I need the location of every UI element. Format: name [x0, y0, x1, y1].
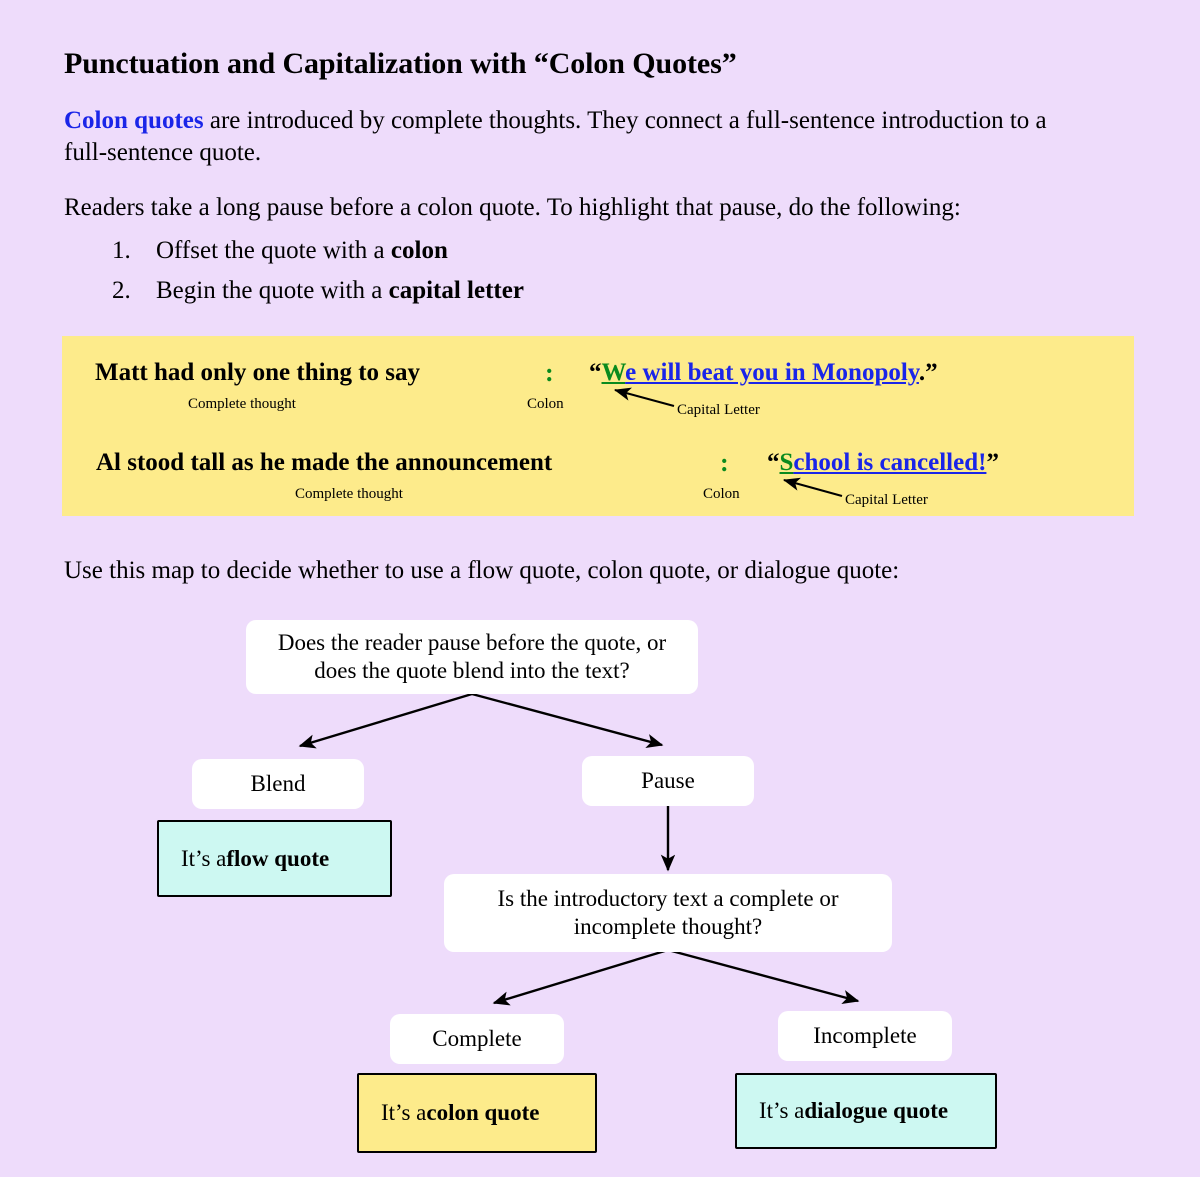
step-text: Offset the quote with a colon — [156, 237, 448, 265]
intro-paragraph-rest: are introduced by complete thoughts. The… — [64, 107, 1047, 166]
flowchart-branch-complete[interactable]: Complete — [390, 1014, 564, 1064]
result-flow-prefix: It’s a — [181, 846, 226, 872]
flowchart-branch-blend[interactable]: Blend — [192, 759, 364, 809]
list-item: 1. Offset the quote with a colon — [112, 237, 524, 265]
result-dialogue-prefix: It’s a — [759, 1098, 804, 1124]
result-colon-bold: colon quote — [426, 1100, 539, 1126]
example-1-intro: Matt had only one thing to say — [95, 359, 420, 387]
result-dialogue-bold: dialogue quote — [804, 1098, 948, 1124]
capital-letter: W — [602, 359, 626, 386]
flowchart-second-question[interactable]: Is the introductory text a complete or i… — [444, 874, 892, 952]
flowchart-result-colon-quote[interactable]: It’s a colon quote — [357, 1073, 597, 1153]
step-text-bold: colon — [391, 237, 448, 264]
step-text: Begin the quote with a capital letter — [156, 277, 524, 305]
example-1-colon-label: Colon — [527, 396, 564, 413]
list-item: 2. Begin the quote with a capital letter — [112, 277, 524, 305]
flowchart-result-flow-quote[interactable]: It’s a flow quote — [157, 820, 392, 897]
capital-letter: S — [780, 449, 794, 476]
example-2-colon: : — [720, 448, 729, 478]
flowchart-connectors — [0, 0, 1200, 1177]
example-2-capital-label: Capital Letter — [845, 492, 928, 509]
steps-list: 1. Offset the quote with a colon 2. Begi… — [112, 237, 524, 317]
flowchart-root-question[interactable]: Does the reader pause before the quote, … — [246, 620, 698, 694]
flowchart-branch-pause[interactable]: Pause — [582, 756, 754, 806]
example-2-intro: Al stood tall as he made the announcemen… — [96, 449, 552, 477]
intro-paragraph: Colon quotes are introduced by complete … — [64, 105, 1054, 169]
examples-highlight-panel: Matt had only one thing to say Complete … — [62, 336, 1134, 516]
step-text-plain: Begin the quote with a — [156, 277, 389, 304]
map-instruction: Use this map to decide whether to use a … — [64, 555, 1144, 587]
close-quote-mark: ” — [986, 449, 999, 476]
step-text-bold: capital letter — [389, 277, 524, 304]
example-1-colon: : — [545, 358, 554, 388]
step-number: 2. — [112, 277, 156, 305]
example-1-quote: “We will beat you in Monopoly.” — [589, 359, 938, 387]
open-quote-mark: “ — [589, 359, 602, 386]
lesson-page: Punctuation and Capitalization with “Col… — [0, 0, 1200, 1177]
example-1-intro-label: Complete thought — [188, 396, 296, 413]
quote-body: e will beat you in Monopoly — [625, 359, 919, 386]
example-2-colon-label: Colon — [703, 486, 740, 503]
flowchart-branch-incomplete[interactable]: Incomplete — [778, 1011, 952, 1061]
result-colon-prefix: It’s a — [381, 1100, 426, 1126]
open-quote-mark: “ — [767, 449, 780, 476]
instruction-paragraph: Readers take a long pause before a colon… — [64, 192, 1144, 224]
example-1-capital-label: Capital Letter — [677, 402, 760, 419]
step-text-plain: Offset the quote with a — [156, 237, 391, 264]
step-number: 1. — [112, 237, 156, 265]
colon-quotes-keyword: Colon quotes — [64, 107, 204, 134]
result-flow-bold: flow quote — [226, 846, 329, 872]
example-2-intro-label: Complete thought — [295, 486, 403, 503]
flowchart-result-dialogue-quote[interactable]: It’s a dialogue quote — [735, 1073, 997, 1149]
page-title: Punctuation and Capitalization with “Col… — [64, 47, 737, 81]
close-quote-mark: ” — [925, 359, 938, 386]
quote-body: chool is cancelled! — [793, 449, 986, 476]
example-2-quote: “School is cancelled!” — [767, 449, 999, 477]
